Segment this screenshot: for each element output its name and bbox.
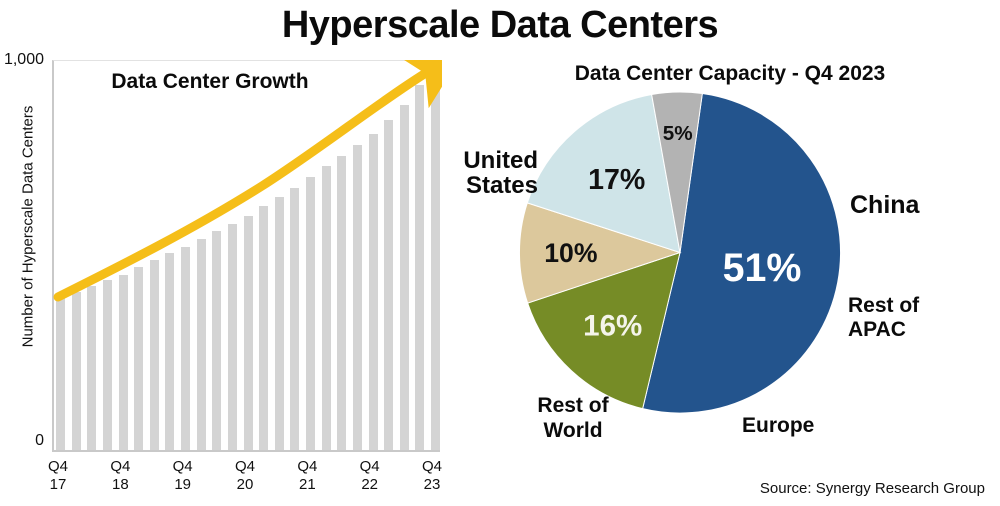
- pie-label-us-line1: United: [463, 147, 538, 174]
- x-tick-line2: 20: [222, 476, 268, 494]
- x-axis-tick-22: Q422: [347, 458, 393, 494]
- bar-chart-panel: Number of Hyperscale Data Centers 1,000 …: [0, 48, 470, 506]
- bar: [290, 188, 299, 450]
- bar: [165, 253, 174, 450]
- pie-label-europe: Europe: [742, 413, 814, 438]
- bar: [415, 85, 424, 450]
- pie-value-china: 16%: [583, 309, 642, 342]
- y-axis-tick-max: 1,000: [0, 51, 44, 69]
- bar: [259, 206, 268, 450]
- bar: [103, 280, 112, 450]
- bar: [119, 275, 128, 451]
- bar: [384, 120, 393, 450]
- bar: [275, 197, 284, 451]
- bar-plot-area: [52, 60, 440, 450]
- bar: [150, 260, 159, 450]
- bar-chart-title: Data Center Growth: [60, 70, 360, 94]
- pie-value-united-states: 51%: [723, 246, 802, 290]
- x-tick-line1: Q4: [222, 458, 268, 476]
- pie-value-rest-of-apac: 10%: [544, 238, 597, 268]
- x-tick-line2: 22: [347, 476, 393, 494]
- bar: [197, 239, 206, 450]
- bar: [56, 298, 65, 450]
- infographic-root: Hyperscale Data Centers Number of Hypers…: [0, 0, 1000, 506]
- bar: [353, 145, 362, 450]
- pie-chart-title: Data Center Capacity - Q4 2023: [470, 62, 990, 86]
- pie-value-rest-of-world: 5%: [663, 122, 693, 145]
- x-axis-tick-17: Q417: [35, 458, 81, 494]
- bar: [306, 177, 315, 450]
- x-axis-line: [52, 450, 440, 452]
- x-tick-line1: Q4: [409, 458, 455, 476]
- x-tick-line2: 21: [284, 476, 330, 494]
- bar: [322, 166, 331, 450]
- bar: [181, 247, 190, 450]
- bar: [212, 231, 221, 450]
- bar: [431, 63, 440, 450]
- bar: [400, 105, 409, 450]
- bar: [87, 286, 96, 450]
- x-tick-line1: Q4: [97, 458, 143, 476]
- pie-label-row-line1: Rest of: [537, 394, 608, 417]
- y-axis-title: Number of Hyperscale Data Centers: [20, 47, 37, 407]
- x-tick-line1: Q4: [160, 458, 206, 476]
- y-axis-tick-min: 0: [0, 432, 44, 450]
- pie-chart-panel: Data Center Capacity - Q4 2023 51%16%10%…: [470, 48, 1000, 506]
- pie-label-apac-line1: Rest of: [848, 294, 919, 317]
- x-tick-line2: 19: [160, 476, 206, 494]
- bar: [369, 134, 378, 450]
- page-title: Hyperscale Data Centers: [0, 4, 1000, 47]
- bar-series: [56, 61, 440, 450]
- pie-label-rest-of-apac: Rest of APAC: [848, 294, 919, 342]
- pie-value-europe: 17%: [588, 164, 645, 196]
- bar: [228, 224, 237, 450]
- pie-label-china: China: [850, 193, 919, 218]
- bar: [337, 156, 346, 450]
- pie-label-united-states: United States: [418, 148, 538, 198]
- pie-label-rest-of-world: Rest of World: [518, 393, 628, 443]
- x-axis-tick-20: Q420: [222, 458, 268, 494]
- x-tick-line1: Q4: [35, 458, 81, 476]
- pie-label-row-line2: World: [543, 419, 602, 442]
- source-attribution: Source: Synergy Research Group: [470, 480, 985, 497]
- x-tick-line1: Q4: [347, 458, 393, 476]
- pie-label-us-line2: States: [466, 172, 538, 199]
- x-axis-tick-18: Q418: [97, 458, 143, 494]
- bar: [72, 292, 81, 450]
- x-axis-tick-21: Q421: [284, 458, 330, 494]
- x-axis-labels: Q417Q418Q419Q420Q421Q422Q423: [52, 458, 440, 506]
- x-tick-line2: 18: [97, 476, 143, 494]
- pie-chart-graphic: 51%16%10%17%5%: [500, 90, 860, 415]
- x-axis-tick-19: Q419: [160, 458, 206, 494]
- x-tick-line2: 23: [409, 476, 455, 494]
- x-axis-tick-23: Q423: [409, 458, 455, 494]
- bar: [134, 267, 143, 450]
- x-tick-line1: Q4: [284, 458, 330, 476]
- bar: [244, 216, 253, 450]
- x-tick-line2: 17: [35, 476, 81, 494]
- pie-label-apac-line2: APAC: [848, 318, 906, 341]
